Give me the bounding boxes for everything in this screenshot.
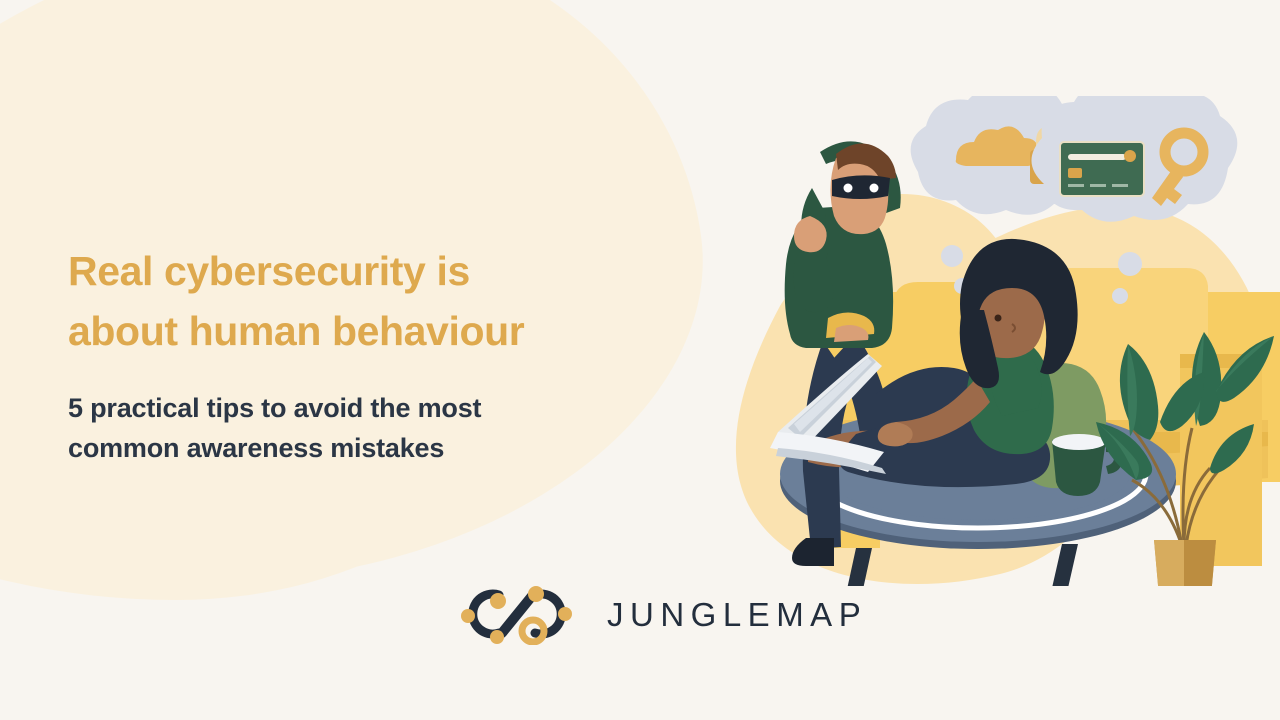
text-block: Real cybersecurity is about human behavi… bbox=[68, 242, 668, 469]
slide-canvas: Real cybersecurity is about human behavi… bbox=[0, 0, 1280, 720]
subhead-line-1: 5 practical tips to avoid the most bbox=[68, 388, 668, 429]
junglemap-mark-icon bbox=[455, 583, 579, 645]
brand-logo[interactable]: JUNGLEMAP bbox=[455, 583, 867, 645]
page-subtitle: 5 practical tips to avoid the most commo… bbox=[68, 388, 668, 469]
brand-wordmark: JUNGLEMAP bbox=[607, 598, 867, 631]
headline-line-2: about human behaviour bbox=[68, 302, 668, 362]
headline-line-1: Real cybersecurity is bbox=[68, 242, 668, 302]
page-title: Real cybersecurity is about human behavi… bbox=[68, 242, 668, 362]
credit-card-icon bbox=[1060, 142, 1144, 196]
subhead-line-2: common awareness mistakes bbox=[68, 428, 668, 469]
hero-illustration bbox=[660, 96, 1280, 586]
